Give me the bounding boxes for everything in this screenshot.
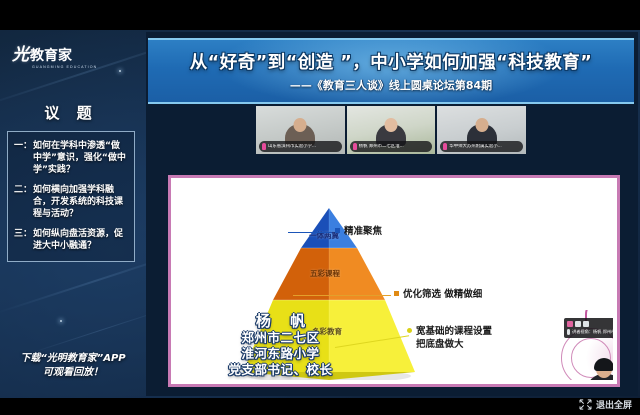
agenda-item: 二： 如何横向加强学科融合，开发系统的科技课程与活动？ <box>14 184 128 220</box>
letterbox-bottom <box>0 398 640 415</box>
callout-leader-line <box>288 232 332 233</box>
promo-line-1: 下载“光明教育家”APP <box>6 352 140 366</box>
callout-text: 精准聚焦 <box>344 225 382 238</box>
agenda-item: 一： 如何在学科中渗透“做中学”意识，强化“做中学”实践？ <box>14 140 128 176</box>
agenda-item-text: 如何纵向盘活资源，促进大中小融通？ <box>33 228 128 252</box>
agenda-item-number: 三： <box>14 228 32 252</box>
promo-line-2: 可观看回放！ <box>6 366 140 380</box>
agenda-item-text: 如何在学科中渗透“做中学”意识，强化“做中学”实践？ <box>33 140 128 176</box>
exit-fullscreen-icon <box>579 399 592 410</box>
decor-sparkle <box>60 320 62 322</box>
pip-name-badge: 讲者视角：杨帆 郑州市二七区... <box>567 329 613 335</box>
logo-subtitle: GUANGMING EDUCATION <box>32 65 108 69</box>
agenda-item: 三： 如何纵向盘活资源，促进大中小融通？ <box>14 228 128 252</box>
forum-title-banner: 从“好奇”到“创造 ”，中小学如何加强“科技教育” ——《教育三人谈》线上圆桌论… <box>148 38 634 104</box>
pyramid-tier-top-left <box>301 208 329 248</box>
logo-name-text: 教育家 <box>30 49 72 63</box>
participant-name-badge: 华中师大苏州附属实验小... <box>440 141 523 152</box>
callout-precise-focus: 精准聚焦 <box>335 225 382 238</box>
pip-controls[interactable]: ⋮ <box>567 320 613 327</box>
participant-tile[interactable]: 山东省滨州市实验小学... <box>256 106 345 154</box>
participant-name-badge: 山东省滨州市实验小学... <box>259 141 342 152</box>
picture-in-picture-window[interactable]: ⋮ 讲者视角：杨帆 郑州市二七区... <box>555 310 613 380</box>
agenda-list: 一： 如何在学科中渗透“做中学”意识，强化“做中学”实践？ 二： 如何横向加强学… <box>7 131 135 262</box>
logo-mark-glyph: 光 <box>12 46 28 63</box>
video-player-screen: 光 教育家 GUANGMING EDUCATION 议 题 一： 如何在学科中渗… <box>0 0 640 415</box>
callout-leader-line <box>293 295 391 296</box>
participant-name: 杨帆 郑州市二七区淮... <box>359 144 430 150</box>
participant-name: 山东省滨州市实验小学... <box>268 144 339 150</box>
participant-head <box>385 118 398 132</box>
callout-text: 优化筛选 做精做细 <box>403 288 482 301</box>
participant-tile[interactable]: 杨帆 郑州市二七区淮... <box>347 106 436 154</box>
round-bullet-icon <box>407 328 412 333</box>
forum-subtitle: ——《教育三人谈》线上圆桌论坛第84期 <box>290 77 492 93</box>
callout-broad-foundation: 宽基础的课程设置 把底盘做大 <box>407 325 492 351</box>
microphone-icon <box>443 143 447 150</box>
pyramid-tier-label-middle: 五彩课程 <box>310 268 340 279</box>
layout-icon[interactable] <box>575 321 581 327</box>
microphone-icon <box>262 143 266 150</box>
broadcast-stage: 光 教育家 GUANGMING EDUCATION 议 题 一： 如何在学科中渗… <box>0 30 640 398</box>
square-bullet-icon <box>335 228 340 233</box>
callout-optimize-select: 优化筛选 做精做细 <box>394 288 482 301</box>
forum-title: 从“好奇”到“创造 ”，中小学如何加强“科技教育” <box>190 49 593 74</box>
letterbox-top <box>0 0 640 30</box>
shared-screen-panel: 从“好奇”到“创造 ”，中小学如何加强“科技教育” ——《教育三人谈》线上圆桌论… <box>146 32 638 396</box>
agenda-title: 议 题 <box>0 102 142 123</box>
pip-toolbar[interactable]: ⋮ 讲者视角：杨帆 郑州市二七区... <box>564 318 613 338</box>
presentation-slide: 一体两翼 五彩课程 多彩教育 精准聚焦 优化筛选 <box>175 182 613 380</box>
microphone-icon <box>567 329 570 335</box>
pip-speaker-video <box>585 356 613 380</box>
slide-frame: 一体两翼 五彩课程 多彩教育 精准聚焦 优化筛选 <box>168 175 620 387</box>
pyramid-tier-label-bottom: 多彩教育 <box>312 326 342 337</box>
record-icon[interactable] <box>567 321 573 327</box>
agenda-item-text: 如何横向加强学科融合，开发系统的科技课程与活动？ <box>33 184 128 220</box>
participant-tile[interactable]: 华中师大苏州附属实验小... <box>437 106 526 154</box>
participant-head <box>475 118 488 132</box>
agenda-item-number: 一： <box>14 140 32 176</box>
brand-logo: 光 教育家 GUANGMING EDUCATION <box>12 46 108 69</box>
callout-text: 宽基础的课程设置 把底盘做大 <box>416 325 492 351</box>
grid-view-icon[interactable] <box>583 321 589 327</box>
participant-strip: 山东省滨州市实验小学... 杨帆 郑州市二七区淮... <box>256 106 526 154</box>
app-download-promo: 下载“光明教育家”APP 可观看回放！ <box>6 352 140 380</box>
participant-name: 华中师大苏州附属实验小... <box>449 144 520 150</box>
exit-fullscreen-label: 退出全屏 <box>596 398 632 411</box>
microphone-icon <box>353 143 357 150</box>
participant-name-badge: 杨帆 郑州市二七区淮... <box>350 141 433 152</box>
participant-head <box>294 118 307 132</box>
agenda-item-number: 二： <box>14 184 32 220</box>
square-bullet-icon <box>394 291 399 296</box>
decor-sparkle <box>119 70 121 72</box>
exit-fullscreen-button[interactable]: 退出全屏 <box>579 398 632 411</box>
agenda-panel: 议 题 一： 如何在学科中渗透“做中学”意识，强化“做中学”实践？ 二： 如何横… <box>0 102 142 262</box>
pip-speaker-hair <box>594 358 613 371</box>
pip-participant-name: 讲者视角：杨帆 郑州市二七区... <box>572 329 613 335</box>
